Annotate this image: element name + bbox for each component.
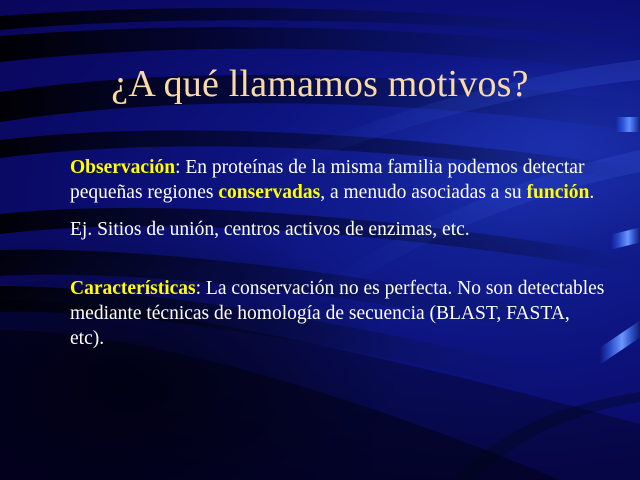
presentation-slide: ¿A qué llamamos motivos? Observación: En… <box>0 0 640 480</box>
paragraph-caracteristicas: Características: La conservación no es p… <box>70 276 605 351</box>
observacion-lead: Observación <box>70 157 175 178</box>
paragraph-ejemplo: Ej. Sitios de unión, centros activos de … <box>70 217 605 242</box>
ribbon-accent-top <box>616 117 640 132</box>
observacion-text-3: . <box>589 182 594 203</box>
observacion-text-2: , a menudo asociadas a su <box>320 182 526 203</box>
slide-body: Observación: En proteínas de la misma fa… <box>70 155 605 351</box>
slide-title: ¿A qué llamamos motivos? <box>0 62 640 106</box>
ribbon-accent-middle <box>611 227 640 249</box>
observacion-highlight-conservadas: conservadas <box>218 182 320 203</box>
observacion-highlight-funcion: función <box>527 182 590 203</box>
ribbon-accent-bottom <box>600 321 640 365</box>
paragraph-observacion: Observación: En proteínas de la misma fa… <box>70 155 605 205</box>
caracteristicas-lead: Características <box>70 278 196 299</box>
